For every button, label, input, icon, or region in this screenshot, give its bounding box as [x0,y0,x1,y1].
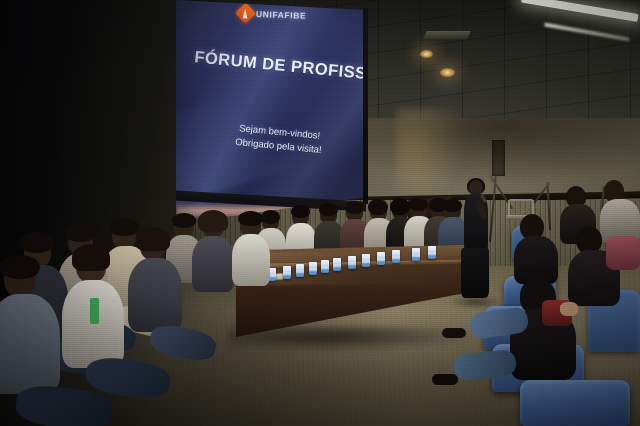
water-cup [377,252,385,265]
water-cup [296,264,304,277]
hair [238,211,263,226]
hair [409,198,428,211]
hair [261,210,280,224]
auditorium-photo: UNIFAFIBE FÓRUM DE PROFISSÕES Sejam bem-… [0,0,640,426]
bag [606,236,640,270]
torso [62,280,124,368]
water-cup [428,246,436,259]
hand [560,302,578,316]
water-cup [333,258,341,271]
auditorium-seat [520,380,630,426]
torso [192,236,234,292]
hair [319,203,338,216]
chair-leg [509,219,511,234]
water-cup [362,254,370,267]
torso [128,258,182,332]
ceiling-vent-icon [423,31,470,39]
water-cup [348,256,356,269]
hair [72,244,110,271]
screen-vignette [176,0,366,224]
shoe [442,328,466,338]
hair [198,210,228,232]
speaker-skirt [461,248,489,298]
torso [232,234,270,286]
hair [368,199,388,215]
speaker-presenter [458,180,492,302]
hair [291,205,310,218]
hair [20,232,54,253]
hair [109,218,139,236]
hair [0,255,40,279]
shoe [432,374,458,385]
hair [390,198,410,215]
hair [172,213,196,228]
screen-frame-right [363,8,368,204]
water-cup [392,250,400,263]
hair [65,223,96,242]
hair [136,227,170,251]
water-cup [283,266,291,279]
water-cup [412,248,420,261]
downlight-icon [440,68,455,77]
badge [90,298,99,324]
downlight-icon [420,50,433,58]
torso [514,236,558,284]
hair [345,201,364,214]
water-cup [309,262,317,275]
water-cup [321,260,329,273]
projection-screen: UNIFAFIBE FÓRUM DE PROFISSÕES Sejam bem-… [176,0,366,224]
torso [0,294,60,394]
